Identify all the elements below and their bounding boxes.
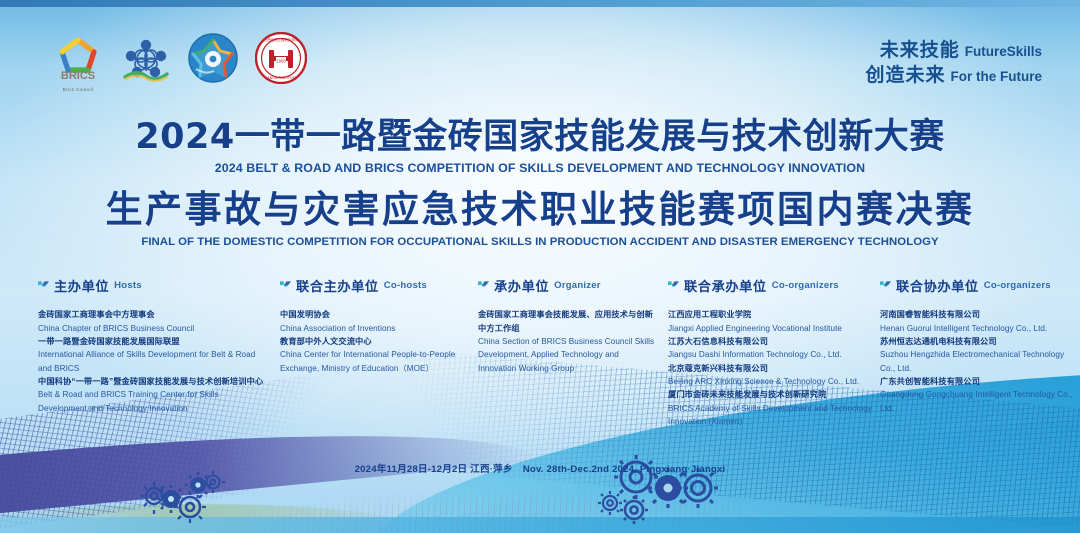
svg-text:BRICS: BRICS (61, 70, 95, 82)
sponsor-name-en: China Center for International People-to… (280, 348, 475, 375)
sponsor-name-en: International Alliance of Skills Develop… (38, 348, 268, 375)
event-date-cn: 2024年11月28日-12月2日 江西·萍乡 (355, 464, 513, 475)
bullet-marker-icon (478, 280, 489, 291)
bullet-marker-icon (38, 280, 49, 291)
sponsor-name-cn: 江西应用工程职业学院 (668, 308, 878, 322)
sponsor-name-cn: 金砖国家工商理事会技能发展、应用技术与创新中方工作组 (478, 308, 658, 335)
slogan-en-1: FutureSkills (965, 44, 1042, 59)
sponsor-name-en: Jiangxi Applied Engineering Vocational I… (668, 322, 878, 335)
sub-title-cn: 生产事故与灾害应急技术职业技能赛项国内赛决赛 (0, 189, 1080, 230)
svg-text:1958: 1958 (276, 59, 286, 64)
sponsor-name-cn: 中国发明协会 (280, 308, 475, 322)
gear-cluster-left (140, 468, 260, 533)
sponsor-name-en: Beijing ARC Xinxing Science & Technology… (668, 375, 878, 388)
sponsor-name-en: China Association of Inventions (280, 322, 475, 335)
svg-text:JIANGXI INSTITUTE: JIANGXI INSTITUTE (264, 76, 296, 80)
sponsor-organization: 河南国睿智能科技有限公司Henan Guorui Intelligent Tec… (880, 308, 1075, 335)
sponsor-organization: 苏州恒志达通机电科技有限公司Suzhou Hengzhida Electrome… (880, 335, 1075, 375)
sponsor-column-header: 联合承办单位Co-organizers (668, 276, 878, 295)
jiangxi-applied-engineering-institute-logo: 1958 江西应用工程职业学院 JIANGXI INSTITUTE (255, 32, 307, 89)
sponsor-name-cn: 河南国睿智能科技有限公司 (880, 308, 1075, 322)
slogan-block: 未来技能FutureSkills 创造未来For the Future (865, 38, 1042, 89)
brics-skills-logo: BRICS Brics Council (52, 32, 104, 89)
sponsor-organization: 金砖国家工商理事会技能发展、应用技术与创新中方工作组China Section … (478, 308, 658, 375)
sponsor-column-title-en: Co-hosts (384, 280, 427, 291)
slogan-line-1: 未来技能FutureSkills (865, 38, 1042, 63)
sponsor-organization: 北京蔻克新兴科技有限公司Beijing ARC Xinxing Science … (668, 362, 878, 389)
sponsor-organization: 厦门市金砖未来技能发展与技术创新研究院BRICS Academy of Skil… (668, 388, 878, 428)
svg-text:江西应用工程职业学院: 江西应用工程职业学院 (264, 37, 299, 42)
sponsor-name-en: Henan Guorui Intelligent Technology Co.,… (880, 322, 1075, 335)
sponsor-organization: 江西应用工程职业学院Jiangxi Applied Engineering Vo… (668, 308, 878, 335)
sponsor-name-cn: 教育部中外人文交流中心 (280, 335, 475, 349)
sponsor-name-cn: 江苏大石信息科技有限公司 (668, 335, 878, 349)
sponsor-name-cn: 广东共创智能科技有限公司 (880, 375, 1075, 389)
sub-title-en: FINAL OF THE DOMESTIC COMPETITION FOR OC… (0, 236, 1080, 248)
event-date: 2024年11月28日-12月2日 江西·萍乡Nov. 28th-Dec.2nd… (0, 461, 1080, 475)
wave-mesh-pink (40, 435, 940, 533)
wave-green (0, 490, 421, 533)
sponsor-column: 承办单位Organizer金砖国家工商理事会技能发展、应用技术与创新中方工作组C… (478, 276, 658, 375)
sponsor-name-en: Guangdong Gongchuang Intelligent Technol… (880, 388, 1075, 415)
sponsor-column: 主办单位Hosts金砖国家工商理事会中方理事会China Chapter of … (38, 276, 268, 415)
main-title-en: 2024 BELT & ROAD AND BRICS COMPETITION O… (0, 161, 1080, 175)
gear-group-left-svg (140, 468, 260, 528)
sponsor-columns: 主办单位Hosts金砖国家工商理事会中方理事会China Chapter of … (0, 276, 1080, 446)
bullet-marker-icon (880, 280, 891, 291)
slogan-en-2: For the Future (951, 69, 1043, 84)
sponsor-organization: 教育部中外人文交流中心China Center for Internationa… (280, 335, 475, 375)
slogan-line-2: 创造未来For the Future (865, 63, 1042, 88)
sponsor-column-title-cn: 联合协办单位 (896, 276, 979, 295)
sponsor-column-title-cn: 联合承办单位 (684, 276, 767, 295)
china-invention-association-logo (121, 33, 171, 88)
sponsor-column-title-en: Co-organizers (984, 280, 1051, 291)
sponsor-name-en: BRICS Academy of Skills Development and … (668, 402, 878, 429)
sponsor-name-en: China Section of BRICS Business Council … (478, 335, 658, 375)
logo-row: BRICS Brics Council (52, 32, 307, 89)
sponsor-name-cn: 厦门市金砖未来技能发展与技术创新研究院 (668, 388, 878, 402)
sponsor-organization: 广东共创智能科技有限公司Guangdong Gongchuang Intelli… (880, 375, 1075, 415)
sponsor-name-cn: 金砖国家工商理事会中方理事会 (38, 308, 268, 322)
sponsor-name-en: Jiangsu Dashi Information Technology Co.… (668, 348, 878, 361)
slogan-cn-2: 创造未来 (865, 65, 945, 86)
sponsor-name-en: China Chapter of BRICS Business Council (38, 322, 268, 335)
bullet-marker-icon (280, 280, 291, 291)
wave-base (0, 517, 1080, 533)
sponsor-column-header: 联合主办单位Co-hosts (280, 276, 475, 295)
skills-alliance-logo (188, 33, 238, 88)
sponsor-name-en: Belt & Road and BRICS Training Center fo… (38, 388, 268, 415)
sponsor-column: 联合主办单位Co-hosts中国发明协会China Association of… (280, 276, 475, 375)
slogan-cn-1: 未来技能 (880, 40, 960, 61)
top-accent-strip (0, 0, 1080, 7)
banner-stage: BRICS Brics Council (0, 0, 1080, 533)
sponsor-column-title-cn: 承办单位 (494, 276, 549, 295)
sponsor-column: 联合协办单位Co-organizers河南国睿智能科技有限公司Henan Guo… (880, 276, 1075, 415)
sponsor-name-cn: 中国科协“一带一路”暨金砖国家技能发展与技术创新培训中心 (38, 375, 268, 389)
event-date-en: Nov. 28th-Dec.2nd 2024, Pingxiang·Jiangx… (523, 464, 726, 475)
sponsor-column-header: 承办单位Organizer (478, 276, 658, 295)
sponsor-organization: 中国科协“一带一路”暨金砖国家技能发展与技术创新培训中心Belt & Road … (38, 375, 268, 415)
sponsor-column-title-cn: 主办单位 (54, 276, 109, 295)
bullet-marker-icon (668, 280, 679, 291)
sponsor-name-cn: 北京蔻克新兴科技有限公司 (668, 362, 878, 376)
sponsor-organization: 中国发明协会China Association of Inventions (280, 308, 475, 335)
sponsor-column-title-en: Hosts (114, 280, 142, 291)
sponsor-organization: 金砖国家工商理事会中方理事会China Chapter of BRICS Bus… (38, 308, 268, 335)
sponsor-organization: 一带一路暨金砖国家技能发展国际联盟International Alliance … (38, 335, 268, 375)
sponsor-column-title-en: Organizer (554, 280, 601, 291)
sponsor-organization: 江苏大石信息科技有限公司Jiangsu Dashi Information Te… (668, 335, 878, 362)
sponsor-name-en: Suzhou Hengzhida Electromechanical Techn… (880, 348, 1075, 375)
sponsor-column-header: 联合协办单位Co-organizers (880, 276, 1075, 295)
sponsor-column-title-en: Co-organizers (772, 280, 839, 291)
sponsor-column: 联合承办单位Co-organizers江西应用工程职业学院Jiangxi App… (668, 276, 878, 429)
main-title-cn: 2024一带一路暨金砖国家技能发展与技术创新大赛 (0, 118, 1080, 157)
sponsor-name-cn: 苏州恒志达通机电科技有限公司 (880, 335, 1075, 349)
title-block: 2024一带一路暨金砖国家技能发展与技术创新大赛 2024 BELT & ROA… (0, 118, 1080, 248)
sponsor-column-header: 主办单位Hosts (38, 276, 268, 295)
sponsor-column-title-cn: 联合主办单位 (296, 276, 379, 295)
sponsor-name-cn: 一带一路暨金砖国家技能发展国际联盟 (38, 335, 268, 349)
